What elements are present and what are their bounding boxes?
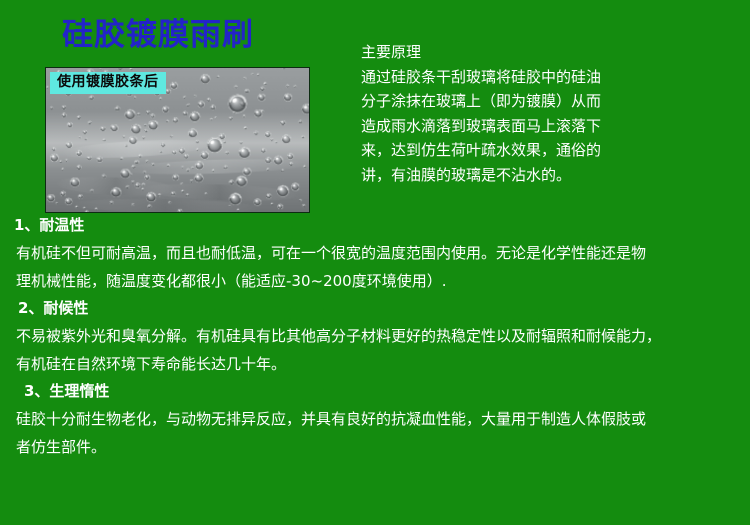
section-3-line-1: 硅胶十分耐生物老化，与动物无排异反应，并具有良好的抗凝血性能，大量用于制造人体假… bbox=[0, 405, 750, 433]
section-1-line-1: 有机硅不但可耐高温，而且也耐低温，可在一个很宽的温度范围内使用。无论是化学性能还… bbox=[0, 239, 750, 267]
section-3-heading: 3、生理惰性 bbox=[0, 378, 750, 405]
principle-block: 主要原理 通过硅胶条干刮玻璃将硅胶中的硅油 分子涂抹在玻璃上（即为镀膜）从而 造… bbox=[361, 40, 741, 187]
principle-line-4: 来，达到仿生荷叶疏水效果，通俗的 bbox=[361, 138, 741, 163]
page-title: 硅胶镀膜雨刷 bbox=[62, 18, 254, 54]
section-3-line-2: 者仿生部件。 bbox=[0, 433, 750, 461]
photo-caption-badge: 使用镀膜胶条后 bbox=[50, 72, 166, 94]
section-2-line-2: 有机硅在自然环境下寿命能长达几十年。 bbox=[0, 350, 750, 378]
section-physiological-inertness: 3、生理惰性 硅胶十分耐生物老化，与动物无排异反应，并具有良好的抗凝血性能，大量… bbox=[0, 378, 750, 461]
section-1-heading: 1、耐温性 bbox=[0, 212, 750, 239]
product-detail-page: 硅胶镀膜雨刷 使用镀膜胶条后 主要原理 通过硅胶条干刮玻璃将硅胶中的硅油 分子涂… bbox=[0, 0, 750, 525]
product-photo: 使用镀膜胶条后 bbox=[45, 67, 310, 213]
principle-line-2: 分子涂抹在玻璃上（即为镀膜）从而 bbox=[361, 89, 741, 114]
section-2-heading: 2、耐候性 bbox=[0, 295, 750, 322]
section-1-line-2: 理机械性能，随温度变化都很小（能适应-30~200度环境使用）. bbox=[0, 267, 750, 295]
principle-line-1: 通过硅胶条干刮玻璃将硅胶中的硅油 bbox=[361, 65, 741, 90]
feature-sections: 1、耐温性 有机硅不但可耐高温，而且也耐低温，可在一个很宽的温度范围内使用。无论… bbox=[0, 212, 750, 461]
section-temperature-resistance: 1、耐温性 有机硅不但可耐高温，而且也耐低温，可在一个很宽的温度范围内使用。无论… bbox=[0, 212, 750, 295]
principle-heading: 主要原理 bbox=[361, 40, 741, 65]
section-2-line-1: 不易被紫外光和臭氧分解。有机硅具有比其他高分子材料更好的热稳定性以及耐辐照和耐候… bbox=[0, 322, 750, 350]
principle-line-5: 讲，有油膜的玻璃是不沾水的。 bbox=[361, 163, 741, 188]
principle-line-3: 造成雨水滴落到玻璃表面马上滚落下 bbox=[361, 114, 741, 139]
section-weather-resistance: 2、耐候性 不易被紫外光和臭氧分解。有机硅具有比其他高分子材料更好的热稳定性以及… bbox=[0, 295, 750, 378]
